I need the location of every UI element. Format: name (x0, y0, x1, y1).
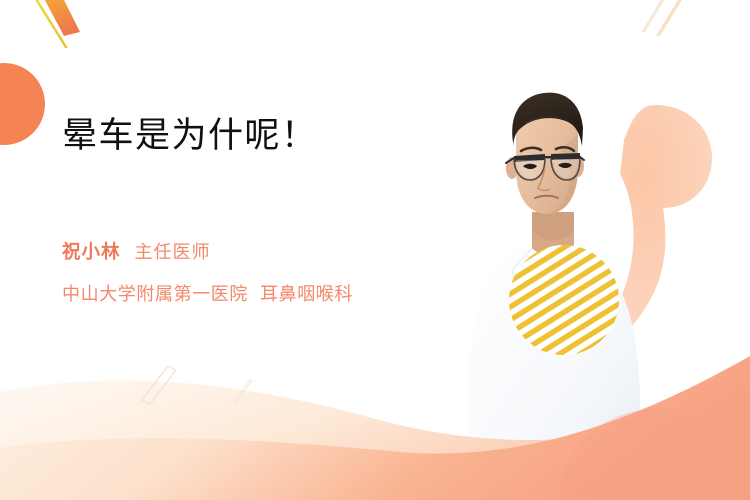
peach-wave-back (0, 381, 750, 500)
neck (532, 212, 574, 256)
necktie (543, 252, 561, 318)
face (516, 98, 578, 214)
promo-card: Φ (0, 0, 750, 500)
doctor-title: 主任医师 (135, 242, 211, 262)
doctor-name: 祝小林 (62, 241, 121, 262)
page-title: 晕车是为什呢！ (62, 112, 482, 160)
shirt-collar (536, 234, 568, 276)
text-block: 晕车是为什呢！ 祝小林主任医师 中山大学附属第一医院耳鼻咽喉科 (62, 112, 482, 306)
peach-wave-front (0, 356, 750, 500)
white-coat (468, 244, 640, 500)
department-name: 耳鼻咽喉科 (260, 284, 353, 304)
hospital-logo-badge: Φ (562, 268, 592, 294)
glasses-icon (506, 153, 584, 180)
svg-text:Φ: Φ (572, 279, 582, 294)
ears (506, 155, 584, 179)
hospital-name: 中山大学附属第一医院 (62, 284, 248, 304)
diagonal-orange-stripe-icon (32, 0, 80, 36)
hair (512, 93, 583, 146)
eyebrows (521, 147, 574, 151)
peach-comma-blob-icon (600, 105, 712, 342)
eyes (523, 163, 572, 169)
mouth (535, 196, 558, 198)
diagonal-yellow-line-icon (24, 0, 68, 48)
outlined-diagonal-stripe-icon (142, 366, 252, 404)
yellow-striped-circle-icon (500, 240, 630, 370)
orange-circle-icon (0, 63, 45, 145)
diagonal-beige-lines-icon (642, 0, 689, 36)
affiliation: 中山大学附属第一医院耳鼻咽喉科 (62, 280, 482, 306)
nose (538, 168, 550, 190)
byline: 祝小林主任医师 (62, 238, 482, 264)
